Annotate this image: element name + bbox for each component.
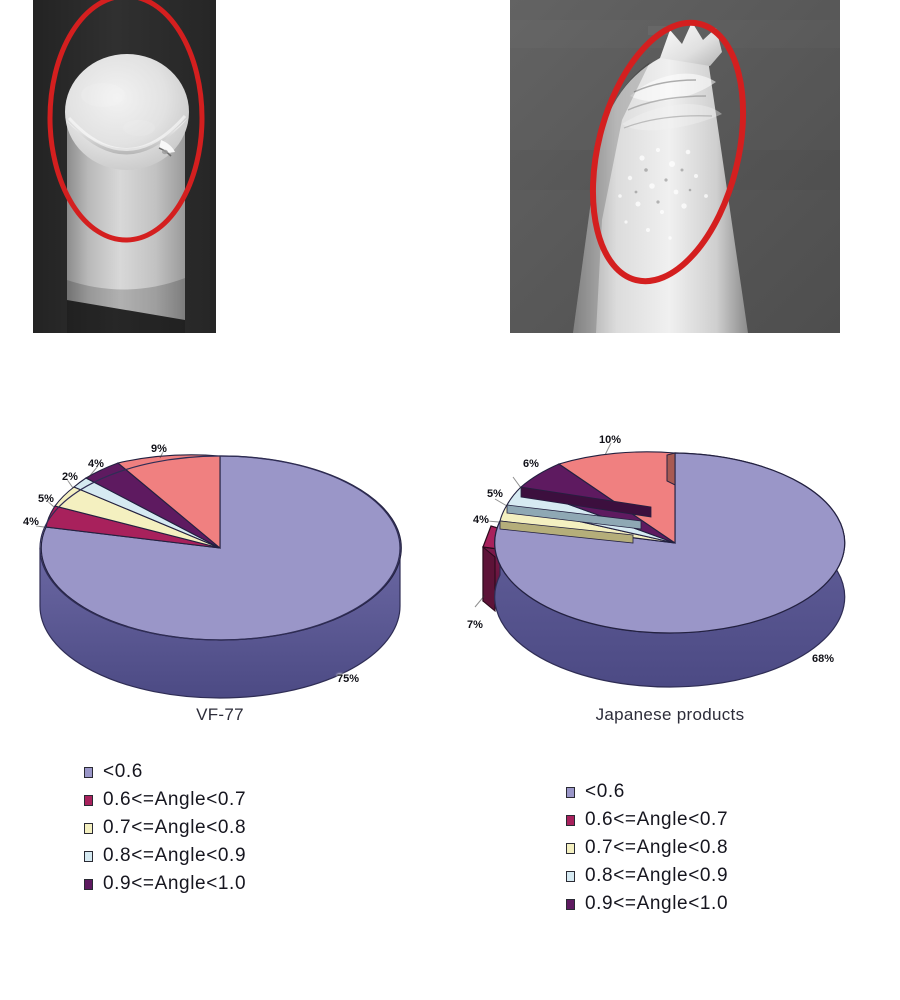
legend-label-07-08: 0.7<=Angle<0.8 xyxy=(103,817,246,839)
legend-label-07-08: 0.7<=Angle<0.8 xyxy=(585,837,728,859)
chart-title-japanese-products: Japanese products xyxy=(455,705,885,725)
sem-photo-damaged-fiber-tip xyxy=(510,0,840,333)
legend-japanese-products: <0.6 0.6<=Angle<0.7 0.7<=Angle<0.8 0.8<=… xyxy=(566,778,728,918)
legend-swatch-08-09 xyxy=(84,851,93,862)
legend-item-09-10[interactable]: 0.9<=Angle<1.0 xyxy=(84,870,246,898)
sem-photo-flat-fiber-tip-image xyxy=(33,0,216,333)
legend-swatch-09-10 xyxy=(84,879,93,890)
legend-item-08-09[interactable]: 0.8<=Angle<0.9 xyxy=(84,842,246,870)
legend-item-06-07[interactable]: 0.6<=Angle<0.7 xyxy=(566,806,728,834)
pie-chart-vf77: 75% 9% 4% 2% 5% 4% VF-77 xyxy=(10,430,430,690)
legend-swatch-06-07 xyxy=(84,795,93,806)
legend-swatch-09-10 xyxy=(566,899,575,910)
legend-swatch-lt06 xyxy=(566,787,575,798)
legend-item-lt06[interactable]: <0.6 xyxy=(566,778,728,806)
pie-exploded-side-left xyxy=(483,547,495,611)
pct-label-lt06: 68% xyxy=(812,653,834,665)
pct-label-06-07: 4% xyxy=(23,516,39,528)
pie-chart-vf77-graphic xyxy=(10,430,430,690)
pct-label-08-09: 5% xyxy=(487,488,503,500)
pct-label-06-07: 7% xyxy=(467,619,483,631)
figure-root: 75% 9% 4% 2% 5% 4% VF-77 xyxy=(0,0,900,1000)
legend-label-lt06: <0.6 xyxy=(585,781,625,803)
legend-item-06-07[interactable]: 0.6<=Angle<0.7 xyxy=(84,786,246,814)
pct-label-07-08: 5% xyxy=(38,493,54,505)
pct-label-lt06: 75% xyxy=(337,673,359,685)
legend-label-06-07: 0.6<=Angle<0.7 xyxy=(585,809,728,831)
pct-label-gte10: 10% xyxy=(599,434,621,446)
sem-photo-flat-fiber-tip xyxy=(33,0,216,333)
legend-swatch-06-07 xyxy=(566,815,575,826)
legend-label-08-09: 0.8<=Angle<0.9 xyxy=(103,845,246,867)
legend-swatch-07-08 xyxy=(84,823,93,834)
legend-item-07-08[interactable]: 0.7<=Angle<0.8 xyxy=(84,814,246,842)
legend-label-09-10: 0.9<=Angle<1.0 xyxy=(103,873,246,895)
pie-side-wall-gte10 xyxy=(667,453,675,485)
pct-label-08-09: 2% xyxy=(62,471,78,483)
legend-item-09-10[interactable]: 0.9<=Angle<1.0 xyxy=(566,890,728,918)
pct-label-07-08: 4% xyxy=(473,514,489,526)
legend-swatch-lt06 xyxy=(84,767,93,778)
legend-vf77: <0.6 0.6<=Angle<0.7 0.7<=Angle<0.8 0.8<=… xyxy=(84,758,246,898)
legend-label-09-10: 0.9<=Angle<1.0 xyxy=(585,893,728,915)
legend-label-08-09: 0.8<=Angle<0.9 xyxy=(585,865,728,887)
pct-label-09-10: 6% xyxy=(523,458,539,470)
legend-item-07-08[interactable]: 0.7<=Angle<0.8 xyxy=(566,834,728,862)
legend-item-08-09[interactable]: 0.8<=Angle<0.9 xyxy=(566,862,728,890)
pct-label-gte10: 9% xyxy=(151,443,167,455)
legend-swatch-07-08 xyxy=(566,843,575,854)
pie-chart-japanese-products: 68% 10% 6% 5% 4% 7% Japanese products xyxy=(455,425,885,690)
pie-chart-japanese-products-graphic xyxy=(455,425,885,690)
legend-item-lt06[interactable]: <0.6 xyxy=(84,758,246,786)
legend-label-06-07: 0.6<=Angle<0.7 xyxy=(103,789,246,811)
pct-label-09-10: 4% xyxy=(88,458,104,470)
sem-photo-damaged-fiber-tip-image xyxy=(510,0,840,333)
chart-title-vf77: VF-77 xyxy=(10,705,430,725)
legend-label-lt06: <0.6 xyxy=(103,761,143,783)
legend-swatch-08-09 xyxy=(566,871,575,882)
